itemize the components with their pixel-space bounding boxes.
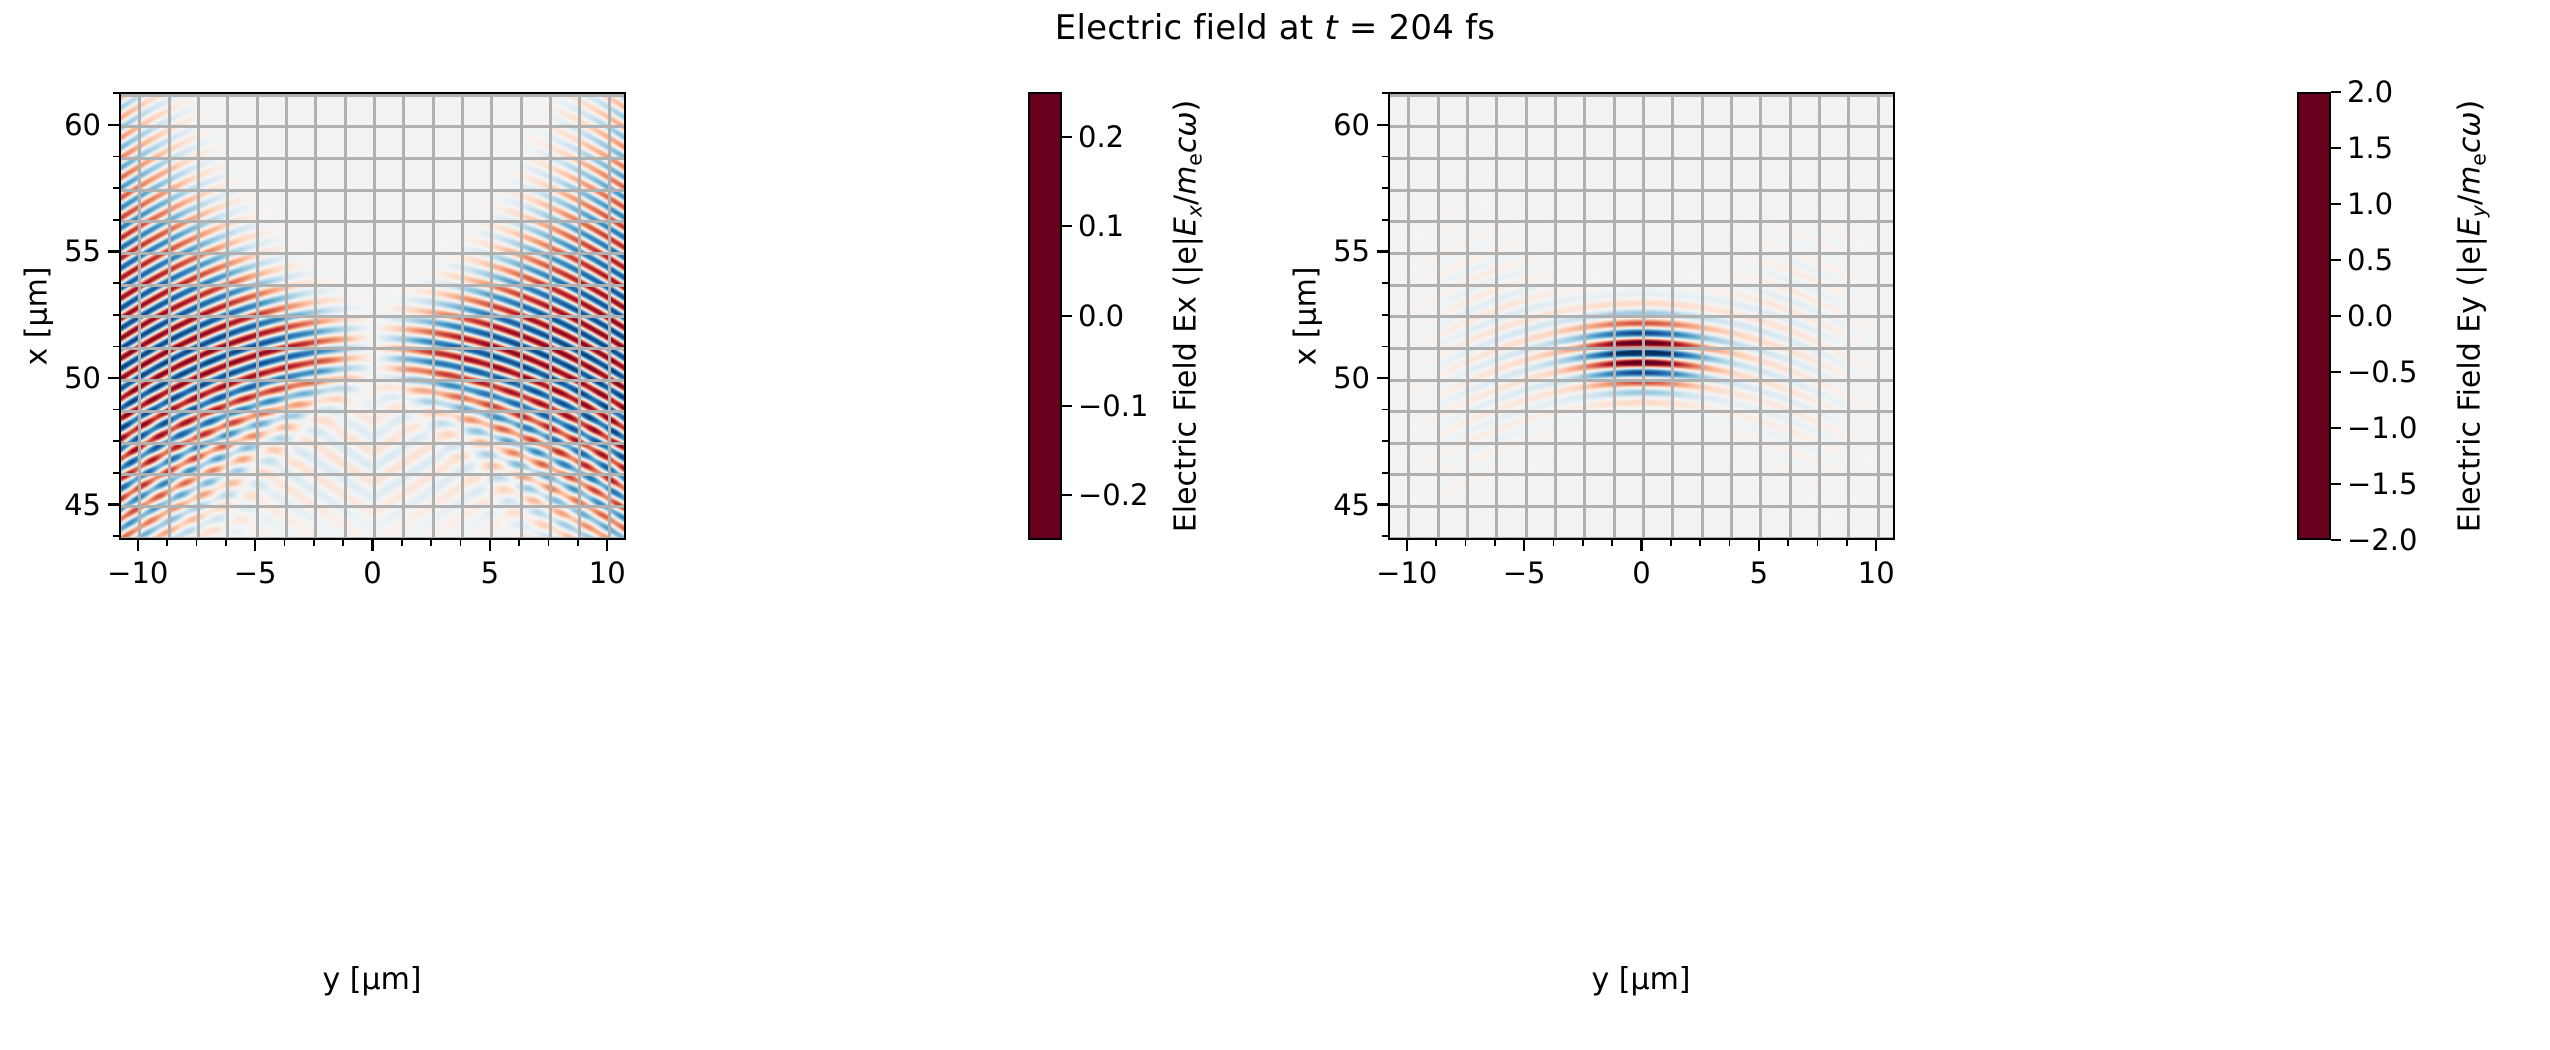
gridline-horizontal [1390, 505, 1893, 508]
colorbar-tick [1062, 225, 1072, 227]
yaxis-tick [1377, 377, 1388, 379]
gridline-horizontal [121, 473, 624, 476]
gridline-horizontal [121, 284, 624, 287]
figure-title: Electric field at t = 204 fs [0, 8, 2550, 48]
xaxis-minor-tick [1465, 540, 1467, 546]
xaxis-tick [1758, 540, 1760, 551]
gridline-horizontal [1390, 410, 1893, 413]
xaxis-minor-tick [548, 540, 550, 546]
cb-ex-E: E [1169, 217, 1204, 236]
xaxis-minor-tick [577, 540, 579, 546]
colorbar-tick-label: 1.0 [2347, 187, 2393, 221]
xaxis-tick [606, 540, 608, 551]
xaxis-minor-tick [518, 540, 520, 546]
yaxis-minor-tick [1382, 219, 1388, 221]
colorbar-tick-label: −0.1 [1078, 389, 1148, 423]
title-prefix: Electric field at [1055, 8, 1325, 48]
colorbar-tick [1062, 136, 1072, 138]
xaxis-label-ex: y [μm] [322, 962, 421, 997]
yaxis-tick [1377, 124, 1388, 126]
xaxis-minor-tick [1699, 540, 1701, 546]
gridline-horizontal [121, 125, 624, 128]
gridline-horizontal [121, 379, 624, 382]
title-unit: fs [1454, 8, 1495, 48]
colorbar-tick-label: 0.0 [1078, 299, 1124, 333]
title-equals: = [1338, 8, 1389, 48]
colorbar-tick-label: −1.0 [2347, 411, 2417, 445]
yaxis-minor-tick [1382, 440, 1388, 442]
xaxis-minor-tick [1611, 540, 1613, 546]
colorbar-tick-label: 0.1 [1078, 209, 1124, 243]
xaxis-minor-tick [1787, 540, 1789, 546]
yaxis-minor-tick [1382, 472, 1388, 474]
xaxis-tick-label: 0 [363, 556, 381, 590]
xaxis-tick-label: 0 [1632, 556, 1650, 590]
xaxis-tick [1523, 540, 1525, 551]
gridline-horizontal [1390, 379, 1893, 382]
xaxis-minor-tick [1582, 540, 1584, 546]
yaxis-minor-tick [113, 219, 119, 221]
yaxis-minor-tick [1382, 535, 1388, 537]
gridline-horizontal [1390, 220, 1893, 223]
yaxis-tick-label: 60 [1310, 108, 1370, 142]
xaxis-tick-label: −5 [234, 556, 277, 590]
gridline-horizontal [121, 189, 624, 192]
colorbar-tick [2331, 315, 2341, 317]
plot-axes-ey[interactable] [1388, 92, 1895, 540]
yaxis-minor-tick [1382, 314, 1388, 316]
gridline-horizontal [1390, 284, 1893, 287]
xaxis-tick [1406, 540, 1408, 551]
cb-ex-c: c [1169, 137, 1204, 154]
colorbar-tick [1062, 405, 1072, 407]
yaxis-minor-tick [113, 187, 119, 189]
yaxis-tick-label: 45 [1310, 488, 1370, 522]
gridline-horizontal [1390, 315, 1893, 318]
xaxis-tick-label: 5 [1750, 556, 1768, 590]
colorbar-tick-label: −2.0 [2347, 523, 2417, 557]
cb-ex-slash: / [1169, 195, 1204, 205]
gridline-horizontal [121, 157, 624, 160]
colorbar-tick [2331, 203, 2341, 205]
xaxis-tick [1875, 540, 1877, 551]
yaxis-minor-tick [1382, 92, 1388, 94]
yaxis-minor-tick [1382, 156, 1388, 158]
colorbar-tick-label: 1.5 [2347, 131, 2393, 165]
colorbar-label-ey: Electric Field Ey (|e|Ey/mecω) [2453, 100, 2488, 532]
xaxis-minor-tick [1494, 540, 1496, 546]
yaxis-minor-tick [113, 409, 119, 411]
yaxis-tick-label: 50 [1310, 361, 1370, 395]
xaxis-minor-tick [1553, 540, 1555, 546]
xaxis-tick-label: −5 [1503, 556, 1546, 590]
xaxis-minor-tick [1729, 540, 1731, 546]
cb-ex-prefix: Electric Field Ex (|e| [1169, 236, 1204, 532]
xaxis-tick-label: 10 [1858, 556, 1895, 590]
yaxis-minor-tick [113, 314, 119, 316]
gridline-horizontal [121, 347, 624, 350]
gridline-horizontal [1390, 473, 1893, 476]
yaxis-tick [1377, 250, 1388, 252]
xaxis-minor-tick [1670, 540, 1672, 546]
yaxis-minor-tick [1382, 282, 1388, 284]
colorbar-tick-label: 0.0 [2347, 299, 2393, 333]
xaxis-tick [254, 540, 256, 551]
gridline-horizontal [1390, 347, 1893, 350]
xaxis-minor-tick [1817, 540, 1819, 546]
yaxis-minor-tick [113, 156, 119, 158]
yaxis-tick-label: 55 [41, 234, 101, 268]
xaxis-tick-label: 10 [589, 556, 626, 590]
yaxis-tick-label: 50 [41, 361, 101, 395]
yaxis-tick-label: 55 [1310, 234, 1370, 268]
yaxis-minor-tick [1382, 187, 1388, 189]
xaxis-minor-tick [1846, 540, 1848, 546]
cb-ex-msub: e [1182, 153, 1206, 166]
xaxis-label-ey: y [μm] [1591, 962, 1690, 997]
yaxis-tick [108, 503, 119, 505]
cb-ey-c: c [2453, 137, 2488, 154]
xaxis-tick [489, 540, 491, 551]
colorbar-label-ex: Electric Field Ex (|e|Ex/mecω) [1169, 100, 1204, 532]
gridlines-ex [121, 94, 624, 538]
yaxis-minor-tick [113, 282, 119, 284]
yaxis-minor-tick [113, 472, 119, 474]
xaxis-minor-tick [166, 540, 168, 546]
gridline-horizontal [1390, 442, 1893, 445]
gridline-horizontal [121, 505, 624, 508]
cb-ey-E: E [2453, 217, 2488, 236]
xaxis-minor-tick [225, 540, 227, 546]
colorbar-tick [2331, 539, 2341, 541]
cb-ex-Esub: x [1182, 205, 1206, 217]
yaxis-minor-tick [113, 440, 119, 442]
xaxis-minor-tick [342, 540, 344, 546]
cb-ey-omega: ω [2453, 112, 2488, 137]
colorbar-tick [2331, 147, 2341, 149]
colorbar-tick [2331, 91, 2341, 93]
yaxis-tick [108, 377, 119, 379]
cb-ex-omega: ω [1169, 112, 1204, 137]
yaxis-label-ex: x [μm] [20, 266, 55, 365]
cb-ey-Esub: y [2466, 205, 2490, 217]
gridline-horizontal [1390, 157, 1893, 160]
xaxis-minor-tick [313, 540, 315, 546]
cb-ey-prefix: Electric Field Ey (|e| [2453, 236, 2488, 532]
gridline-horizontal [121, 442, 624, 445]
colorbar-tick [2331, 427, 2341, 429]
colorbar-tick-label: 0.2 [1078, 120, 1124, 154]
cb-ex-suffix: ) [1169, 100, 1204, 112]
yaxis-minor-tick [1382, 346, 1388, 348]
yaxis-minor-tick [113, 346, 119, 348]
xaxis-tick-label: 5 [481, 556, 499, 590]
colorbar-tick-label: −1.5 [2347, 467, 2417, 501]
xaxis-tick [137, 540, 139, 551]
xaxis-tick [1640, 540, 1642, 551]
xaxis-minor-tick [284, 540, 286, 546]
colorbar-tick [2331, 483, 2341, 485]
xaxis-minor-tick [196, 540, 198, 546]
cb-ey-suffix: ) [2453, 100, 2488, 112]
xaxis-tick-label: −10 [107, 556, 168, 590]
colorbar-tick [1062, 494, 1072, 496]
yaxis-label-ey: x [μm] [1289, 266, 1324, 365]
cb-ey-m: m [2453, 166, 2488, 195]
colorbar-tick-label: 0.5 [2347, 243, 2393, 277]
xaxis-minor-tick [430, 540, 432, 546]
xaxis-tick [371, 540, 373, 551]
cb-ey-slash: / [2453, 195, 2488, 205]
yaxis-minor-tick [1382, 409, 1388, 411]
colorbar-tick-label: 2.0 [2347, 75, 2393, 109]
yaxis-tick-label: 45 [41, 488, 101, 522]
gridline-horizontal [121, 94, 624, 97]
gridline-horizontal [1390, 252, 1893, 255]
xaxis-minor-tick [401, 540, 403, 546]
gridline-horizontal [1390, 94, 1893, 97]
xaxis-minor-tick [460, 540, 462, 546]
gridline-horizontal [1390, 125, 1893, 128]
figure-canvas: Electric field at t = 204 fs −10−5051045… [0, 0, 2550, 1050]
colorbar-tick [2331, 371, 2341, 373]
colorbar-tick-label: −0.2 [1078, 478, 1148, 512]
gridline-horizontal [121, 410, 624, 413]
yaxis-tick [108, 250, 119, 252]
gridline-horizontal [121, 315, 624, 318]
colorbar-tick-label: −0.5 [2347, 355, 2417, 389]
yaxis-minor-tick [113, 535, 119, 537]
xaxis-minor-tick [1435, 540, 1437, 546]
xaxis-tick-label: −10 [1376, 556, 1437, 590]
colorbar-tick [1062, 315, 1072, 317]
gridlines-ey [1390, 94, 1893, 538]
colorbar-ey[interactable] [2297, 92, 2331, 540]
yaxis-minor-tick [113, 92, 119, 94]
cb-ex-m: m [1169, 166, 1204, 195]
gridline-horizontal [121, 252, 624, 255]
gridline-horizontal [121, 220, 624, 223]
yaxis-tick-label: 60 [41, 108, 101, 142]
yaxis-tick [1377, 503, 1388, 505]
cb-ey-msub: e [2466, 153, 2490, 166]
title-value: 204 [1389, 8, 1455, 48]
gridline-horizontal [1390, 189, 1893, 192]
title-variable: t [1324, 8, 1338, 48]
plot-axes-ex[interactable] [119, 92, 626, 540]
colorbar-ex[interactable] [1028, 92, 1062, 540]
colorbar-tick [2331, 259, 2341, 261]
yaxis-tick [108, 124, 119, 126]
